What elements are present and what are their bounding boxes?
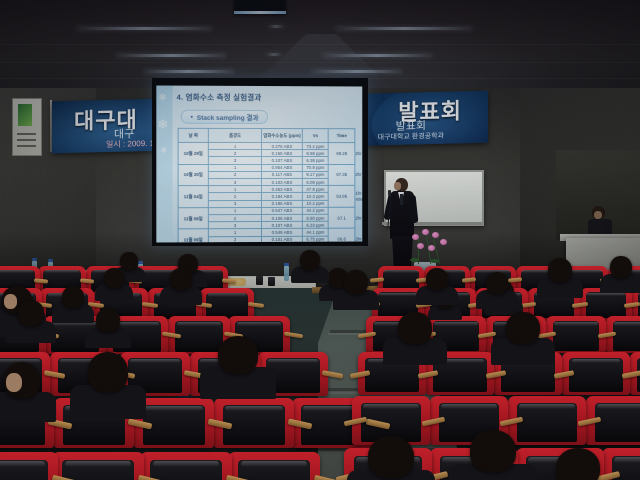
audience-head — [104, 268, 124, 288]
ceiling-light — [312, 70, 402, 73]
projection-screen: ❄ ❄ ❄ 4. 염화수소 측정 실험결과 Stack sampling 결과 … — [156, 85, 362, 242]
audience-head — [368, 436, 414, 478]
seat-highlight — [153, 461, 219, 467]
audience-head — [426, 268, 448, 290]
cell-ppm: 6.09 ppm — [302, 178, 328, 185]
cell-ppm: 44.2 ppm — [302, 207, 328, 214]
cell-absorbance: 0.184 ABS — [262, 193, 303, 200]
seat-highlight — [130, 359, 180, 363]
seat-highlight — [614, 457, 640, 463]
ceiling-light — [268, 25, 284, 28]
seat-highlight — [568, 270, 601, 273]
slide-title: 4. 염화수소 측정 실험결과 — [177, 92, 262, 103]
cell-date: 11월 06일 — [178, 207, 208, 229]
seat-highlight — [363, 404, 419, 409]
seat-back — [228, 452, 320, 480]
seat-highlight — [0, 270, 33, 273]
cell-index: 1 — [208, 186, 261, 193]
ceiling-light — [336, 27, 472, 30]
presenter-tie — [400, 194, 403, 205]
flower-bloom — [428, 245, 435, 251]
audience-head — [88, 352, 128, 392]
seat-highlight — [65, 461, 131, 467]
lecture-hall-photo: 대구대 발표회 대구 발표회 일시 : 2009. 11. 20(금) 대구대학… — [0, 0, 640, 480]
seat[interactable] — [0, 452, 58, 480]
cell-ppm: 10.2 ppm — [302, 200, 328, 207]
seat-cushion — [595, 403, 640, 442]
cell-absorbance: 0.103 ABS — [262, 178, 303, 185]
seat-highlight — [554, 322, 597, 326]
banner-department: 대구대학교 환경공학과 — [378, 131, 444, 143]
podium-person-face — [594, 211, 602, 219]
cell-vs: 67.35 — [329, 164, 355, 186]
audience-head — [218, 336, 258, 374]
seat-highlight — [208, 293, 247, 296]
seat-cushion — [569, 358, 622, 392]
snowflake-icon: ❄ — [157, 120, 168, 130]
seat-highlight — [572, 359, 621, 363]
audience-head — [506, 312, 540, 344]
seat-highlight — [597, 404, 640, 409]
cell-date: 11월 09일 — [178, 229, 208, 242]
cell-ppm: 73.2 ppm — [302, 143, 328, 150]
th-concentration: 염화수소농도 (ppm) — [262, 129, 303, 143]
cell-index: 2 — [208, 171, 261, 178]
seat-highlight — [225, 406, 283, 411]
water-bottle — [284, 266, 289, 281]
audience-head — [96, 308, 120, 332]
flower-bloom — [422, 229, 429, 235]
cell-ppm: 6.75 ppm — [302, 236, 328, 243]
cell-index: 2 — [208, 150, 261, 157]
audience-head — [470, 430, 516, 472]
snowflake-icon: ❄ — [160, 146, 167, 156]
cell-absorbance: 0.186 ABS — [262, 200, 303, 207]
seat-highlight — [379, 293, 416, 296]
ceiling-light — [266, 53, 282, 56]
seat-highlight — [145, 406, 203, 411]
slide-bullet: Stack sampling 결과 — [181, 110, 269, 124]
seat-highlight — [177, 322, 222, 326]
seat-highlight — [268, 359, 318, 363]
seat-highlight — [237, 322, 282, 326]
cell-vs: 53.86 — [329, 186, 355, 208]
cell-index: 1 — [208, 142, 261, 149]
seat-highlight — [141, 270, 176, 273]
seat-highlight — [115, 322, 160, 326]
seat-highlight — [587, 293, 624, 296]
ceiling-light — [76, 27, 212, 30]
flower-bloom — [412, 234, 419, 240]
cell-ppm: 8.90 ppm — [302, 214, 328, 221]
seat-highlight — [434, 322, 477, 326]
seat-back — [52, 452, 144, 480]
seat-cushion — [553, 321, 600, 351]
seat[interactable] — [52, 452, 144, 480]
cell-index: 1 — [208, 164, 261, 171]
cell-absorbance: 0.276 ABS — [262, 143, 303, 150]
th-vs: Vs — [302, 129, 328, 143]
seat-highlight — [441, 404, 497, 409]
wall-poster — [12, 98, 42, 156]
seat-cushion — [613, 321, 640, 351]
table-row: 10월 29일10.276 ABS73.2 ppm69.282hr — [178, 142, 355, 149]
cell-ppm: 8.98 ppm — [302, 150, 328, 157]
flower-leaf — [410, 258, 419, 262]
flower-bloom — [417, 243, 424, 249]
audience-face — [4, 294, 18, 309]
seat-highlight — [614, 322, 640, 326]
table-row: 10월 30일10.954 ABS70.9 ppm67.352hr — [178, 164, 355, 171]
seat-highlight — [0, 461, 45, 467]
th-absorbance: 흡광도 — [208, 128, 261, 142]
cell-date: 10월 29일 — [178, 142, 208, 164]
table-header-row: 날 짜 흡광도 염화수소농도 (ppm) Vs Time — [178, 128, 355, 142]
audience-head — [548, 258, 572, 282]
seat-cushion — [586, 292, 627, 318]
cell-index: 3 — [208, 179, 261, 186]
cell-ppm: 9.17 ppm — [302, 171, 328, 178]
cell-absorbance: 0.954 ABS — [262, 164, 303, 171]
slide-table: 날 짜 흡광도 염화수소농도 (ppm) Vs Time 10월 29일10.2… — [178, 128, 356, 243]
th-date: 날 짜 — [178, 128, 208, 142]
audience-head — [300, 250, 320, 270]
flower-leaf — [430, 259, 439, 263]
cell-date: 11월 04일 — [178, 186, 208, 208]
audience-head — [344, 270, 368, 294]
audience-head — [120, 252, 138, 270]
audience-head — [610, 256, 632, 278]
cell-absorbance: 0.107 ABS — [262, 157, 303, 164]
seat-cushion — [143, 405, 205, 445]
snowflake-icon: ❄ — [158, 94, 166, 104]
ceiling-light — [322, 54, 432, 57]
seat-cushion — [517, 403, 578, 442]
seat-cushion — [223, 405, 285, 445]
slide-sidebar — [156, 85, 172, 242]
bullet-dot-icon — [191, 116, 193, 118]
projector — [234, 0, 286, 14]
cell-ppm: 70.9 ppm — [302, 164, 328, 171]
seat[interactable] — [140, 452, 232, 480]
audience-head — [18, 300, 44, 326]
seat-highlight — [241, 461, 307, 467]
cell-index: 2 — [208, 236, 261, 242]
ceiling-light — [144, 70, 234, 73]
cell-ppm: 6.38 ppm — [302, 157, 328, 164]
seat-highlight — [519, 404, 575, 409]
cell-date: 10월 30일 — [178, 164, 208, 186]
cell-ppm: 47.8 ppm — [302, 186, 328, 193]
seat-highlight — [384, 270, 417, 273]
drink-cup — [256, 276, 263, 285]
cell-absorbance: 0.101 ABS — [262, 236, 303, 243]
flower-bloom — [432, 232, 439, 238]
presenter-face — [394, 182, 401, 190]
th-time: Time — [329, 129, 355, 143]
cell-absorbance: 0.117 ABS — [262, 171, 303, 178]
cell-vs: 69.28 — [329, 143, 355, 165]
seat-back — [0, 452, 58, 480]
audience-head — [170, 268, 192, 290]
projector-lens — [234, 11, 286, 14]
cell-ppm: 6.33 ppm — [302, 221, 328, 228]
cell-vs: 67.1 — [329, 207, 355, 229]
audience-head — [556, 448, 600, 480]
cell-vs: 66.6 — [329, 229, 355, 243]
audience-head — [486, 272, 508, 294]
slide-bullet-label: Stack sampling 결과 — [197, 112, 259, 122]
cell-index: 3 — [208, 157, 261, 164]
seat-highlight — [45, 270, 80, 273]
cell-absorbance: 0.463 ABS — [262, 186, 303, 193]
flower-bloom — [440, 239, 447, 245]
drink-cup — [268, 277, 275, 286]
audience-face — [6, 373, 22, 392]
ceiling-light — [116, 54, 226, 57]
audience-head — [62, 286, 84, 308]
seat-back — [140, 452, 232, 480]
cell-absorbance: 0.155 ABS — [262, 150, 303, 157]
cell-ppm: 10.3 ppm — [302, 193, 328, 200]
poster-graphic — [18, 104, 32, 126]
audience-head — [398, 312, 432, 344]
seat[interactable] — [228, 452, 320, 480]
